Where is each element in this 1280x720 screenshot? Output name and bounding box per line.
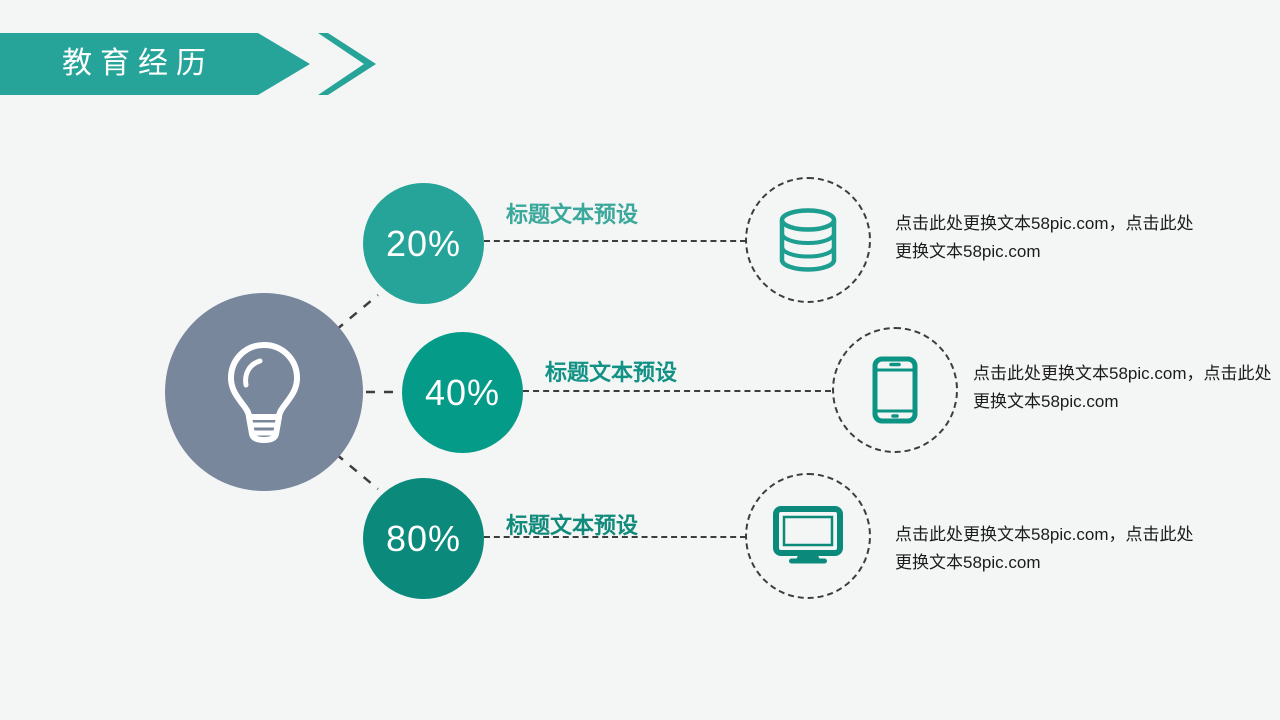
row-title-2: 标题文本预设 [545, 362, 677, 384]
page-title: 教育经历 [0, 49, 214, 79]
percent-circle-2[interactable]: 40% [402, 332, 523, 453]
spoke-line-top [336, 295, 378, 330]
row-body-1: 点击此处更换文本58pic.com，点击此处更换文本58pic.com [895, 210, 1195, 266]
connector-line-1 [484, 240, 746, 242]
percent-circle-3[interactable]: 80% [363, 478, 484, 599]
slide-canvas: 教育经历 20% 标题文本预设 [0, 0, 1280, 720]
percent-circle-1[interactable]: 20% [363, 183, 484, 304]
icon-circle-2[interactable] [832, 327, 958, 453]
lightbulb-icon [216, 338, 312, 446]
hub-circle [165, 293, 363, 491]
row-body-3: 点击此处更换文本58pic.com，点击此处更换文本58pic.com [895, 521, 1195, 577]
spoke-line-bottom [336, 454, 378, 489]
icon-circle-3[interactable] [745, 473, 871, 599]
row-title-1: 标题文本预设 [506, 204, 638, 226]
row-title-3: 标题文本预设 [506, 515, 638, 537]
header-banner: 教育经历 [0, 33, 310, 95]
percent-value-1: 20% [386, 223, 461, 265]
database-icon [777, 207, 839, 273]
row-body-2: 点击此处更换文本58pic.com，点击此处更换文本58pic.com [973, 360, 1273, 416]
percent-value-2: 40% [425, 372, 500, 414]
double-chevron-right-icon [318, 33, 376, 95]
connector-line-2 [523, 390, 831, 392]
icon-circle-1[interactable] [745, 177, 871, 303]
percent-value-3: 80% [386, 518, 461, 560]
smartphone-icon [872, 356, 918, 424]
monitor-icon [773, 506, 843, 566]
